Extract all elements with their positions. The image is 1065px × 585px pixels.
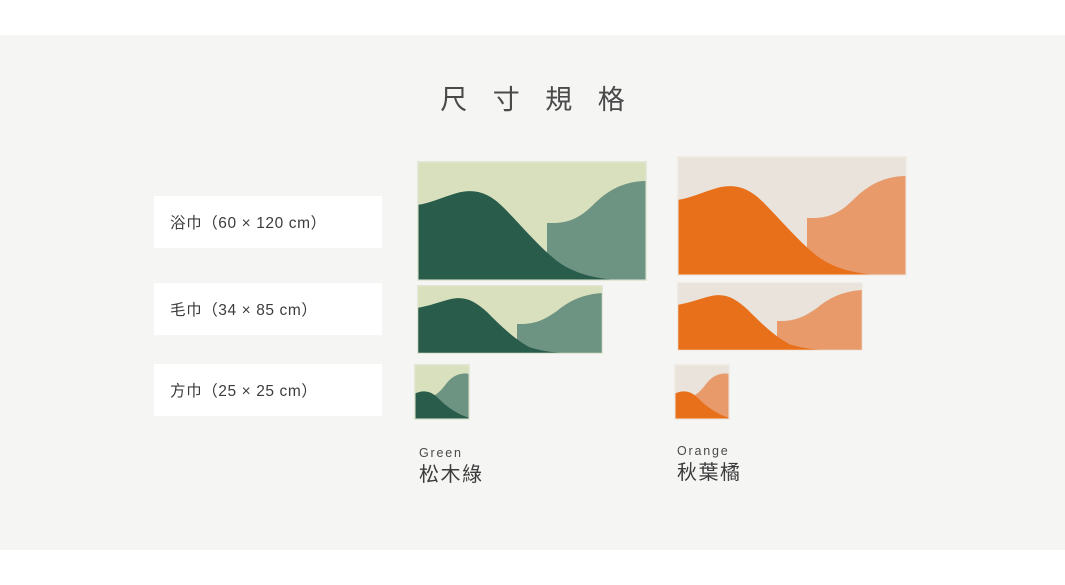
- colorway-name-zh-orange: 秋葉橘: [677, 460, 742, 486]
- colorway-name-en-green: Green: [419, 445, 484, 461]
- size-label-bath-towel: 浴巾（60 × 120 cm）: [154, 196, 382, 248]
- page-title: 尺 寸 規 格: [0, 78, 1065, 117]
- towel-swatch-green-face: [417, 285, 603, 354]
- size-label-face-towel: 毛巾（34 × 85 cm）: [154, 283, 382, 335]
- size-label-wash-towel: 方巾（25 × 25 cm）: [154, 364, 382, 416]
- colorway-caption-green: Green 松木綠: [419, 445, 484, 488]
- colorway-caption-orange: Orange 秋葉橘: [677, 443, 742, 486]
- towel-swatch-green-bath: [417, 161, 647, 281]
- towel-swatch-orange-face: [677, 282, 863, 351]
- towel-swatch-orange-bath: [677, 156, 907, 276]
- colorway-name-zh-green: 松木綠: [419, 462, 484, 488]
- towel-swatch-green-wash: [414, 364, 470, 420]
- colorway-name-en-orange: Orange: [677, 443, 742, 459]
- towel-swatch-orange-wash: [674, 364, 730, 420]
